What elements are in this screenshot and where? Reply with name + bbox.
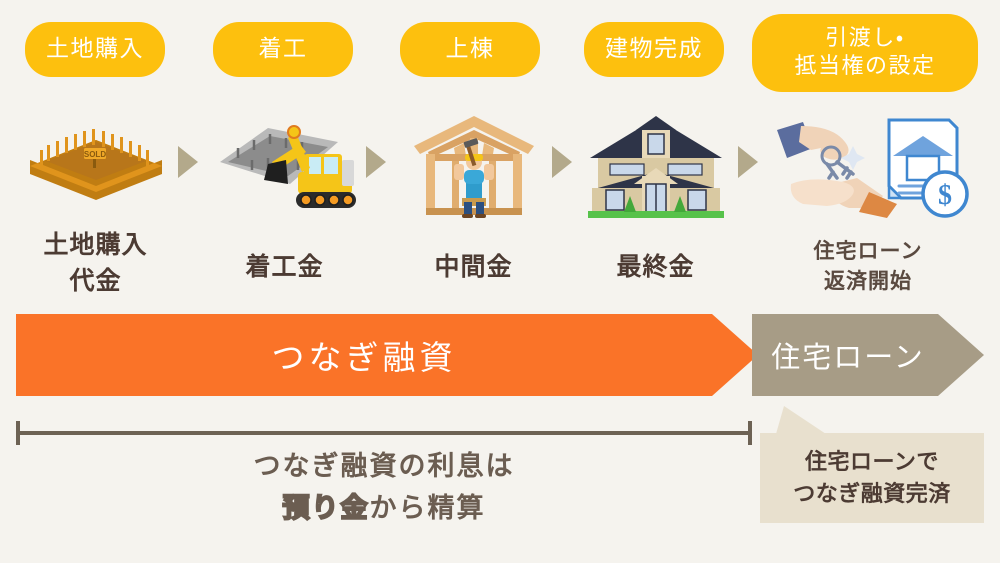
stage-icon-slot-land-purchase: SOLD (18, 106, 173, 218)
measure-cap-right (748, 421, 752, 445)
payment-label-loan-repayment-start: 住宅ローン 返済開始 (758, 237, 978, 297)
stage-icon-slot-building-complete (578, 106, 733, 218)
callout-tail (776, 406, 826, 434)
note-line-2: 預り金から精算 (16, 488, 752, 530)
svg-text:SOLD: SOLD (83, 150, 105, 159)
bridge-loan-interest-note: つなぎ融資の利息は 預り金から精算 (16, 446, 752, 530)
home-loan-bar: 住宅ローン (752, 314, 984, 396)
payment-label-land-cost: 土地購入 代金 (18, 228, 173, 299)
stage-badge-framing: 上棟 (400, 22, 540, 77)
flow-arrow-4-icon (738, 146, 758, 178)
svg-text:$: $ (938, 180, 952, 211)
note-line-2-rest: から精算 (370, 493, 486, 523)
key-handover-contract-icon: $ (761, 112, 976, 218)
note-highlight-deposit: 預り金 (283, 493, 370, 523)
stage-badge-land-purchase: 土地購入 (25, 22, 165, 77)
home-loan-payoff-callout: 住宅ローンで つなぎ融資完済 (760, 433, 984, 523)
excavator-foundation-icon (210, 110, 360, 218)
payment-label-interim-payment: 中間金 (396, 250, 551, 286)
bridge-loan-span-measure (16, 421, 752, 445)
flow-arrow-1-icon (178, 146, 198, 178)
house-frame-carpenter-icon (408, 110, 540, 218)
stage-badge-handover-mortgage: 引渡し・ 抵当権の設定 (752, 14, 978, 92)
payment-label-start-payment: 着工金 (207, 250, 362, 286)
stage-badge-building-complete: 建物完成 (584, 22, 724, 77)
flow-arrow-3-icon (552, 146, 572, 178)
land-plot-sold-icon: SOLD (22, 112, 170, 218)
stage-icon-slot-handover: $ (758, 106, 978, 218)
flow-arrow-2-icon (366, 146, 386, 178)
bridge-loan-bar-label: つなぎ融資 (272, 331, 457, 379)
callout-text: 住宅ローンで つなぎ融資完済 (793, 446, 951, 510)
completed-house-icon (582, 114, 730, 218)
stage-icon-slot-construction-start (207, 106, 362, 218)
note-line-1: つなぎ融資の利息は (254, 451, 515, 481)
bridge-loan-bar: つなぎ融資 (16, 314, 758, 396)
diagram-canvas: 土地購入 着工 上棟 建物完成 引渡し・ 抵当権の設定 SOLD (0, 0, 1000, 563)
measure-line (16, 431, 752, 435)
stage-badge-construction-start: 着工 (213, 22, 353, 77)
stage-icon-slot-framing (396, 106, 551, 218)
payment-label-final-payment: 最終金 (578, 250, 733, 286)
home-loan-bar-label: 住宅ローン (771, 334, 925, 376)
